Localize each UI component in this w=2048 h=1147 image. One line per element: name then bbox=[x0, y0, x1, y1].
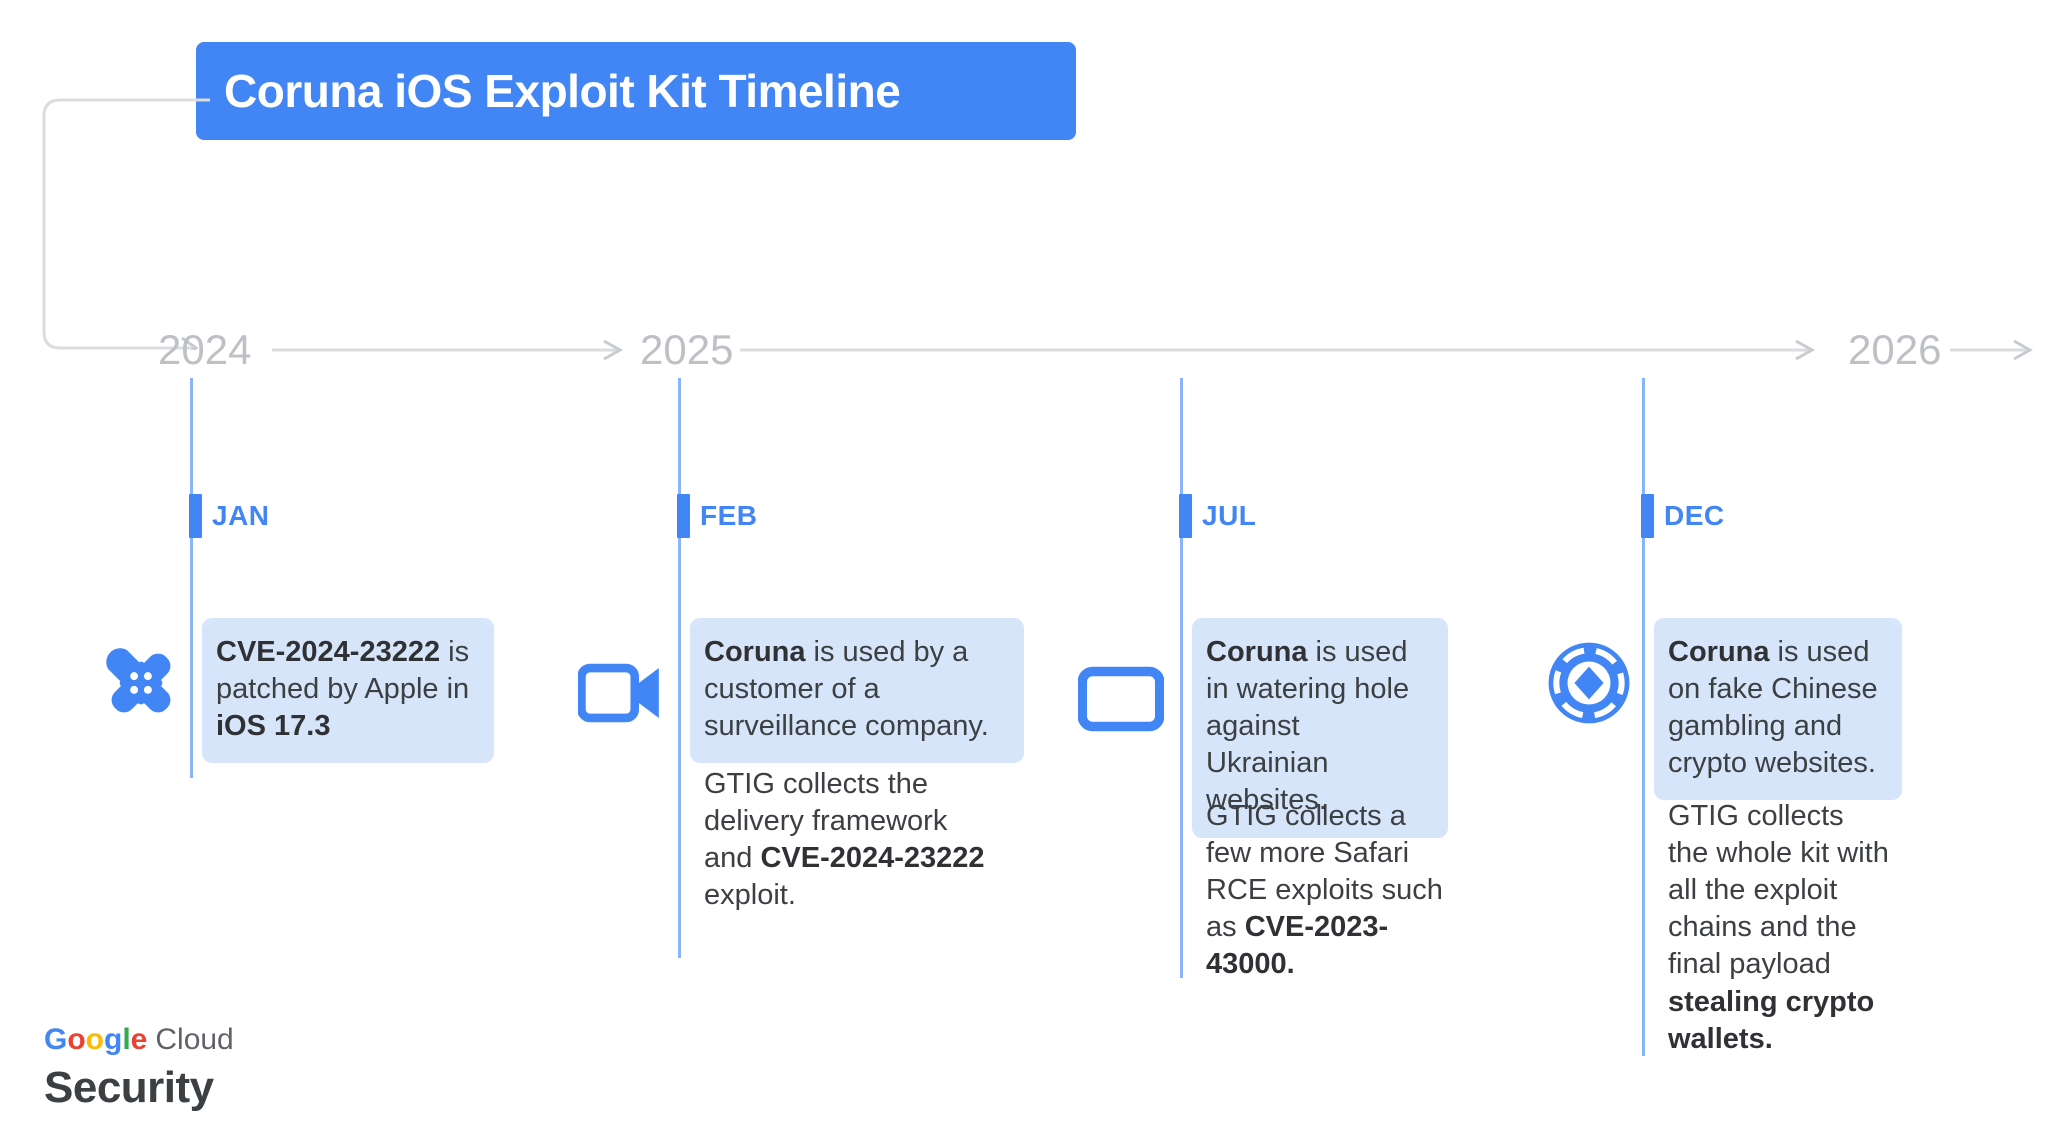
bandage-icon bbox=[98, 640, 184, 726]
event-month-tab bbox=[189, 494, 202, 538]
event-card-dec: Coruna is used on fake Chinese gambling … bbox=[1654, 618, 1902, 800]
event-followup-feb: GTIG collects the delivery framework and… bbox=[690, 766, 1024, 914]
event-followup-dec: GTIG collects the whole kit with all the… bbox=[1654, 798, 1912, 1058]
timeline-axis bbox=[0, 318, 2048, 388]
year-label-2025: 2025 bbox=[640, 320, 733, 380]
year-label-2024: 2024 bbox=[158, 320, 251, 380]
event-month-label-feb: FEB bbox=[700, 494, 758, 538]
event-month-label-jul: JUL bbox=[1202, 494, 1256, 538]
event-vertical-line bbox=[1642, 378, 1645, 1056]
google-letter-e: e bbox=[131, 1023, 148, 1056]
event-month-label-dec: DEC bbox=[1664, 494, 1725, 538]
event-vertical-line bbox=[190, 378, 193, 778]
google-letter-o1: o bbox=[67, 1023, 85, 1056]
video-camera-icon bbox=[578, 650, 664, 736]
event-vertical-line bbox=[678, 378, 681, 958]
event-month-label-jan: JAN bbox=[212, 494, 270, 538]
cloud-wordmark: Cloud bbox=[155, 1023, 233, 1056]
security-wordmark: Security bbox=[44, 1060, 234, 1116]
year-label-2026: 2026 bbox=[1848, 320, 1941, 380]
google-letter-l: l bbox=[122, 1023, 130, 1056]
google-letter-o2: o bbox=[86, 1023, 104, 1056]
google-letter-g: G bbox=[44, 1023, 67, 1056]
google-letter-g2: g bbox=[104, 1023, 122, 1056]
event-month-tab bbox=[1641, 494, 1654, 538]
google-cloud-security-logo: GoogleCloud Security bbox=[44, 1022, 234, 1116]
browser-window-icon bbox=[1078, 656, 1164, 742]
event-card-feb: Coruna is used by a customer of a survei… bbox=[690, 618, 1024, 763]
casino-chip-icon bbox=[1546, 640, 1632, 726]
event-vertical-line bbox=[1180, 378, 1183, 978]
event-month-tab bbox=[677, 494, 690, 538]
event-followup-jul: GTIG collects a few more Safari RCE expl… bbox=[1192, 798, 1480, 984]
event-month-tab bbox=[1179, 494, 1192, 538]
title-connector-elbow bbox=[42, 98, 212, 350]
event-card-jan: CVE-2024-23222 is patched by Apple in iO… bbox=[202, 618, 494, 763]
page-title: Coruna iOS Exploit Kit Timeline bbox=[224, 68, 900, 114]
google-cloud-wordmark: GoogleCloud bbox=[44, 1022, 234, 1058]
page-title-banner: Coruna iOS Exploit Kit Timeline bbox=[196, 42, 1076, 140]
